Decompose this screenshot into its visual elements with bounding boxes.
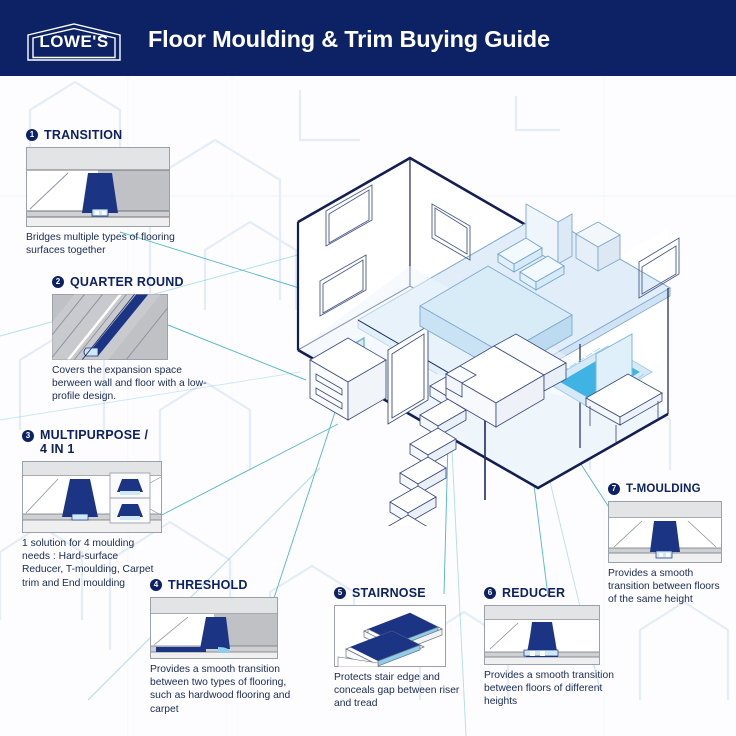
t-moulding-diagram [608,501,722,563]
callout-description: Provides a smooth transition between flo… [484,669,624,709]
callout-header: 1 TRANSITION [26,128,206,142]
page-title: Floor Moulding & Trim Buying Guide [148,26,550,53]
callout-transition[interactable]: 1 TRANSITION Bridges multiple types of f… [26,128,206,257]
callout-description: Protects stair edge and conceals gap bet… [334,671,464,711]
stairnose-diagram [334,605,446,667]
callout-title: STAIRNOSE [352,586,426,600]
callout-title: QUARTER ROUND [70,275,184,289]
threshold-diagram [150,597,278,659]
callout-badge-number: 7 [608,483,620,495]
lowes-logo[interactable]: LOWE'S [22,22,126,62]
callout-title: THRESHOLD [168,578,248,592]
callout-title: MULTIPURPOSE / 4 IN 1 [40,428,158,456]
callout-badge-number: 2 [52,276,64,288]
callout-t-moulding[interactable]: 7 T-MOULDING Provides a smooth transitio… [608,482,730,607]
callout-description: Covers the expansion space berween wall … [52,364,222,404]
callout-stairnose[interactable]: 5 STAIRNOSE Protects stair edge and conc… [334,586,484,711]
callout-multipurpose[interactable]: 3 MULTIPURPOSE / 4 IN 1 1 so [22,428,172,590]
callout-description: Provides a smooth transition between two… [150,663,302,716]
callout-title: T-MOULDING [626,482,701,496]
callout-description: Provides a smooth transition between flo… [608,567,730,607]
callout-badge-number: 6 [484,587,496,599]
callout-description: 1 solution for 4 moulding needs : Hard-s… [22,537,162,590]
callout-badge-number: 4 [150,579,162,591]
lowes-logo-text: LOWE'S [22,22,126,62]
callout-header: 2 QUARTER ROUND [52,275,237,289]
callout-badge-number: 3 [22,430,34,442]
callout-header: 3 MULTIPURPOSE / 4 IN 1 [22,428,172,456]
callout-header: 7 T-MOULDING [608,482,730,496]
callout-header: 5 STAIRNOSE [334,586,484,600]
callout-badge-number: 5 [334,587,346,599]
header-bar: LOWE'S Floor Moulding & Trim Buying Guid… [0,0,736,76]
transition-diagram [26,147,170,227]
callout-header: 4 THRESHOLD [150,578,310,592]
quarter-round-diagram [52,294,168,360]
callout-threshold[interactable]: 4 THRESHOLD Provides a smooth transition… [150,578,310,716]
infographic-page: LOWE'S Floor Moulding & Trim Buying Guid… [0,0,736,736]
callout-title: TRANSITION [44,128,122,142]
multipurpose-diagram [22,461,162,533]
reducer-diagram [484,605,600,665]
callout-quarter-round[interactable]: 2 QUARTER ROUND Covers the expansion spa… [52,275,237,404]
callout-badge-number: 1 [26,129,38,141]
callout-title: REDUCER [502,586,565,600]
isometric-cutaway-house [280,86,700,526]
callout-description: Bridges multiple types of flooring surfa… [26,231,196,257]
